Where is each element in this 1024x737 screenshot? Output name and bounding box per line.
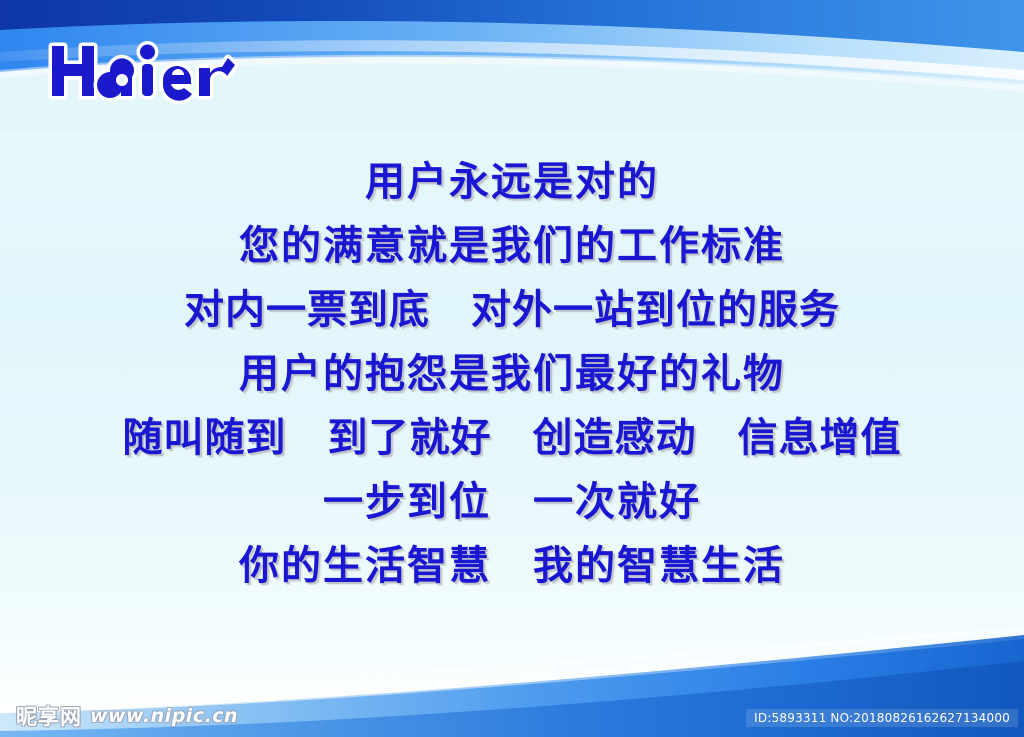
watermark-site-url: www.nipic.cn — [90, 705, 238, 727]
slogan-line-3: 对内一票到底 对外一站到位的服务 — [0, 278, 1024, 342]
slogan-line-4: 用户的抱怨是我们最好的礼物 — [0, 342, 1024, 406]
id-stamp: ID:5893311 NO:20180826162627134000 — [746, 709, 1018, 727]
site-watermark: 昵享网 www.nipic.cn — [16, 703, 238, 729]
slogan-line-7: 你的生活智慧 我的智慧生活 — [0, 534, 1024, 598]
haier-logo — [44, 36, 244, 108]
poster-canvas: 用户永远是对的 您的满意就是我们的工作标准 对内一票到底 对外一站到位的服务 用… — [0, 0, 1024, 737]
slogan-line-6: 一步到位 一次就好 — [0, 470, 1024, 534]
slogan-line-5: 随叫随到 到了就好 创造感动 信息增值 — [0, 406, 1024, 470]
watermark-site-name: 昵享网 — [16, 701, 82, 731]
slogan-line-2: 您的满意就是我们的工作标准 — [0, 214, 1024, 278]
slogan-block: 用户永远是对的 您的满意就是我们的工作标准 对内一票到底 对外一站到位的服务 用… — [0, 150, 1024, 598]
slogan-line-1: 用户永远是对的 — [0, 150, 1024, 214]
